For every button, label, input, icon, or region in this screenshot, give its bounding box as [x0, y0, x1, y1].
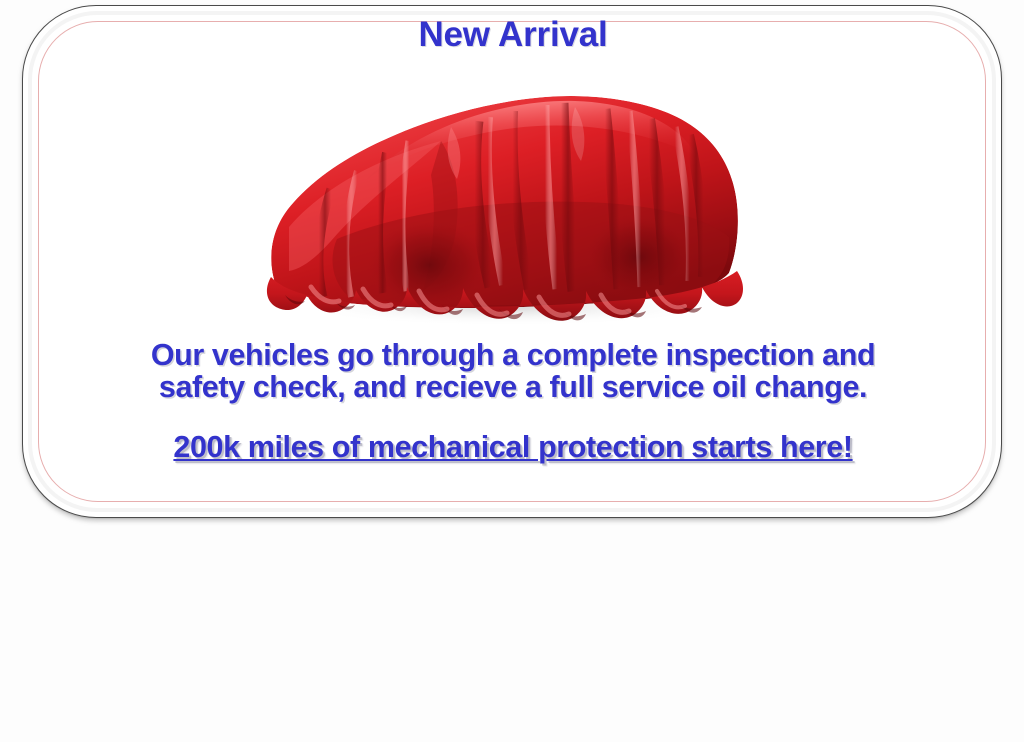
covered-car-image — [245, 61, 755, 331]
promo-body-line-2: safety check, and recieve a full service… — [58, 371, 968, 403]
promo-banner: New Arrival — [0, 0, 1024, 742]
page-title: New Arrival — [23, 15, 1003, 55]
new-arrival-promo-card: New Arrival — [22, 5, 1002, 518]
promo-tagline: 200k miles of mechanical protection star… — [58, 430, 968, 465]
promo-body-copy: Our vehicles go through a complete inspe… — [58, 339, 968, 403]
promo-body-line-1: Our vehicles go through a complete inspe… — [58, 339, 968, 371]
